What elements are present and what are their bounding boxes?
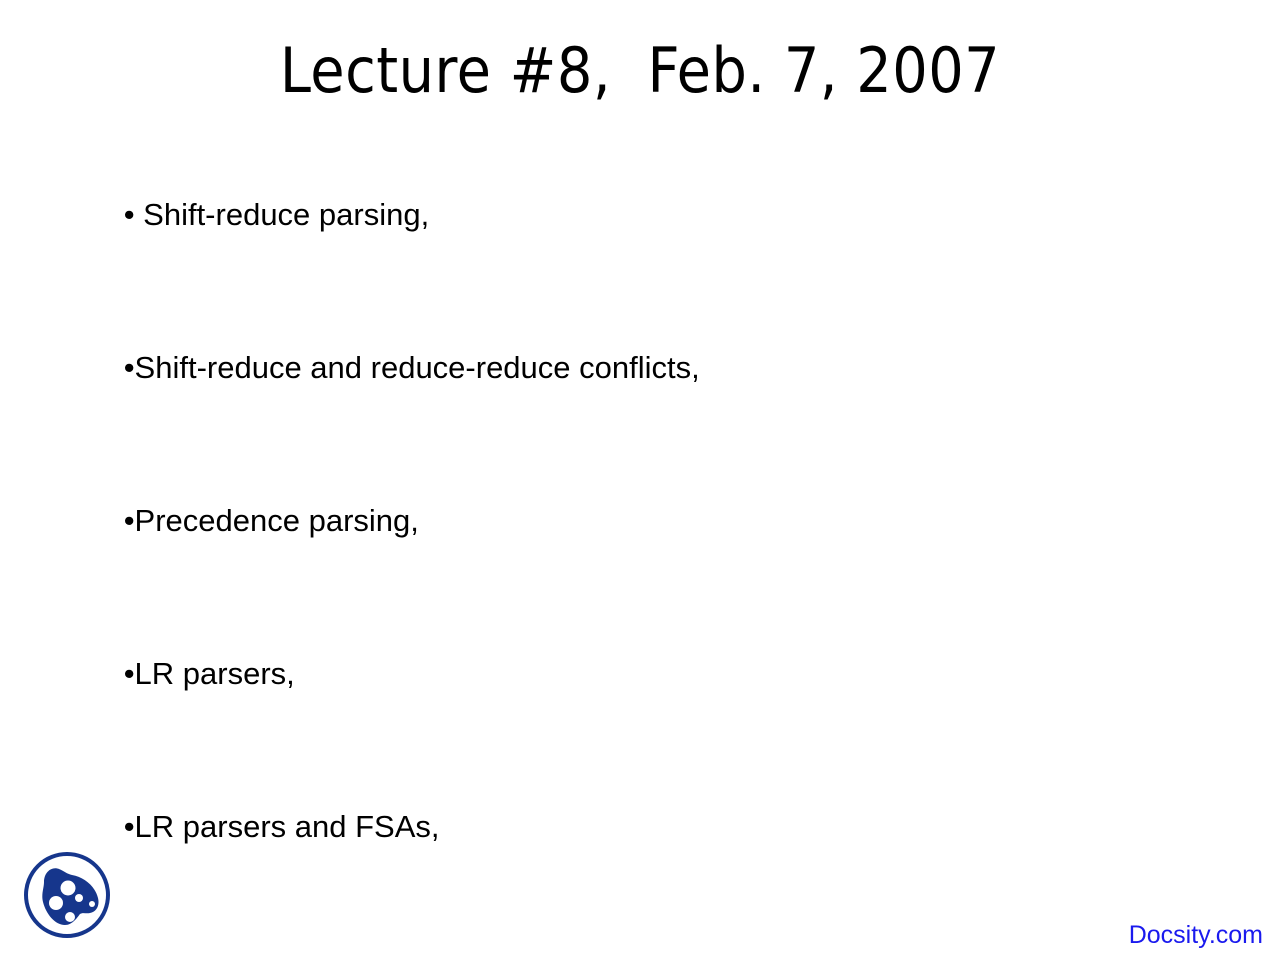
bullet-item: •LR parsing Tables, (72, 903, 1192, 960)
bullet-marker: • (124, 656, 135, 691)
docsity-logo-icon (22, 846, 114, 942)
bullet-item: •LR parsers, (72, 597, 1192, 750)
slide-title: Lecture #8, Feb. 7, 2007 (0, 38, 1280, 103)
bullet-text: LR parsers and FSAs, (135, 809, 440, 844)
bullet-text: Shift-reduce and reduce-reduce conflicts… (135, 350, 700, 385)
bullet-list: • Shift-reduce parsing, •Shift-reduce an… (72, 138, 1192, 960)
bullet-text: Precedence parsing, (135, 503, 419, 538)
docsity-wordmark[interactable]: Docsity.com (1129, 921, 1263, 950)
bullet-item: • Shift-reduce parsing, (72, 138, 1192, 291)
bullet-marker: • (124, 350, 135, 385)
bullet-text: Shift-reduce parsing, (143, 197, 429, 232)
bullet-item: •LR parsers and FSAs, (72, 750, 1192, 903)
presentation-slide: Lecture #8, Feb. 7, 2007 • Shift-reduce … (0, 0, 1280, 960)
bullet-item: •Precedence parsing, (72, 444, 1192, 597)
bullet-marker: • (124, 503, 135, 538)
bullet-marker: • (124, 197, 143, 232)
bullet-marker: • (124, 809, 135, 844)
bullet-text: LR parsers, (135, 656, 295, 691)
bullet-item: •Shift-reduce and reduce-reduce conflict… (72, 291, 1192, 444)
